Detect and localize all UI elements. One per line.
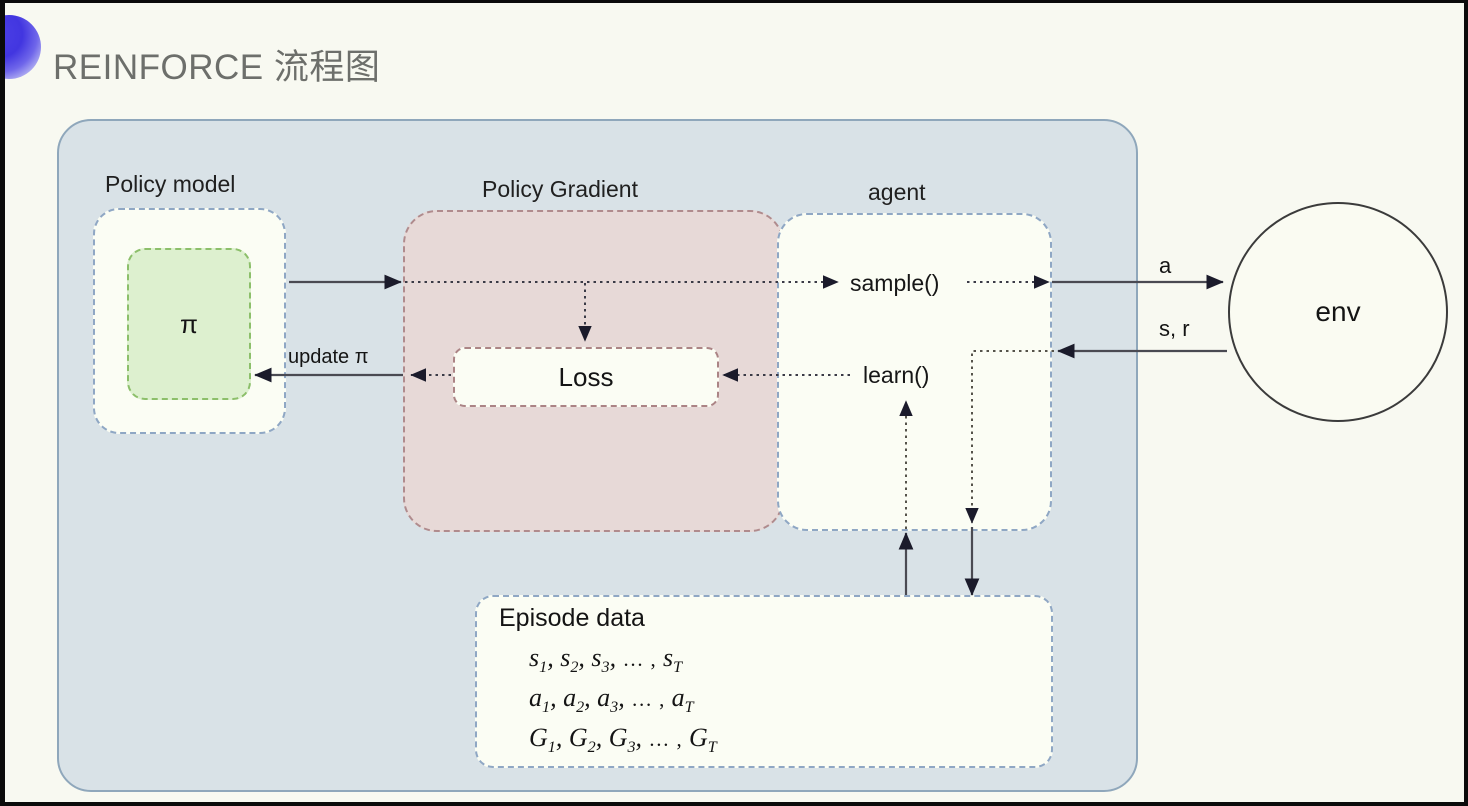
agent-learn-function: learn() [863,362,929,389]
agent-sample-function: sample() [850,270,939,297]
action-edge-label: a [1159,253,1171,279]
episode-data-states-line: s1, s2, s3, … , sT [529,643,682,677]
episode-data-actions-line: a1, a2, a3, … , aT [529,683,694,717]
decorative-bullet-icon [0,15,41,79]
env-node: env [1228,202,1448,422]
state-reward-edge-label: s, r [1159,316,1190,342]
slide-canvas: REINFORCE 流程图 Policy model Policy Gradie… [0,0,1468,806]
pi-node: π [127,248,251,400]
policy-gradient-caption: Policy Gradient [482,176,638,203]
update-pi-edge-label: update π [288,346,369,369]
loss-node: Loss [453,347,719,407]
episode-data-returns-line: G1, G2, G3, … , GT [529,723,717,757]
policy-model-caption: Policy model [105,171,235,198]
page-title: REINFORCE 流程图 [53,39,380,90]
agent-caption: agent [868,179,926,206]
episode-data-title: Episode data [499,604,645,633]
